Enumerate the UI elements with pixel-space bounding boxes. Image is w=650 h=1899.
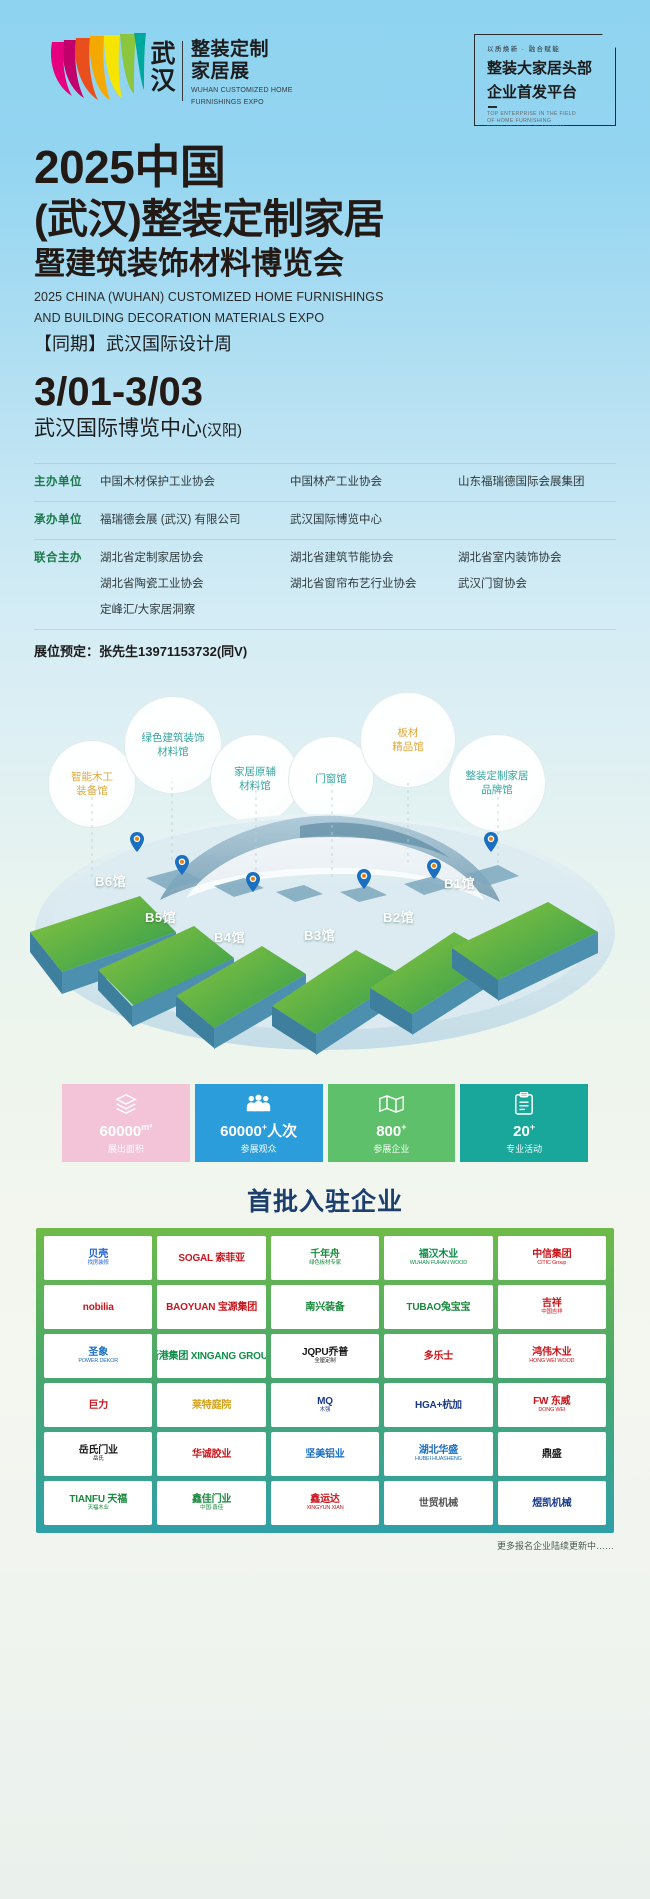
company-logo[interactable]: 煜凯机械 xyxy=(498,1481,606,1525)
company-logo[interactable]: nobilia xyxy=(44,1285,152,1329)
company-subtitle: WUHAN FUHAN WOOD xyxy=(410,1260,467,1267)
map-pin-icon[interactable] xyxy=(130,832,144,852)
company-logo[interactable]: 多乐士 xyxy=(384,1334,492,1378)
company-name: MQ xyxy=(317,1396,333,1407)
company-subtitle: 全屋定制 xyxy=(302,1358,348,1365)
organizer-name xyxy=(458,601,616,620)
stat-superscript: + xyxy=(530,1122,535,1132)
organizer-name: 湖北省窗帘布艺行业协会 xyxy=(290,575,458,594)
stat-number: 800 xyxy=(376,1123,401,1140)
company-name: 贝壳 xyxy=(88,1249,108,1260)
poster: 武汉 整装定制 家居展 WUHAN CUSTOMIZED HOME FURNIS… xyxy=(0,0,650,1899)
company-name: 华诚胶业 xyxy=(192,1449,231,1460)
company-logo[interactable]: 巨力 xyxy=(44,1383,152,1427)
pavilion-label-line1: 家居原辅 xyxy=(234,765,276,779)
clipboard-icon xyxy=(514,1092,534,1116)
pavilion-label-line1: 板材 xyxy=(392,726,424,740)
pavilion-label-line2: 材料馆 xyxy=(142,745,205,759)
company-name: 莱特庭院 xyxy=(192,1400,231,1411)
pavilion-bubble[interactable]: 板材精品馆 xyxy=(360,692,456,788)
company-name: 吉祥 xyxy=(542,1298,562,1309)
slogan-divider xyxy=(488,106,497,108)
footer-note: 更多报名企业陆续更新中…… xyxy=(0,1539,614,1552)
hall-label-B4馆[interactable]: B4馆 xyxy=(214,927,245,946)
organizer-name: 湖北省室内装饰协会 xyxy=(458,549,616,568)
organizer-values: 中国木材保护工业协会中国林产工业协会山东福瑞德国际会展集团 xyxy=(100,473,616,492)
stats-row: 60000m²展出面积60000+人次参展观众800+参展企业20+专业活动 xyxy=(0,1084,650,1162)
pavilion-label-line1: 整装定制家居 xyxy=(466,769,529,783)
organizer-row: 承办单位福瑞德会展 (武汉) 有限公司武汉国际博览中心 xyxy=(34,501,616,539)
organizer-name: 武汉门窗协会 xyxy=(458,575,616,594)
stat-card: 800+参展企业 xyxy=(328,1084,456,1162)
organizer-line: 湖北省陶瓷工业协会湖北省窗帘布艺行业协会武汉门窗协会 xyxy=(100,575,616,594)
pavilion-label-line2: 精品馆 xyxy=(392,740,424,754)
visitors-icon xyxy=(245,1092,272,1116)
company-logo[interactable]: HGA+杭加 xyxy=(384,1383,492,1427)
event-venue: 武汉国际博览中心(汉阳) xyxy=(34,415,616,445)
company-subtitle: HONG WEI WOOD xyxy=(529,1358,574,1365)
company-name: 巨力 xyxy=(88,1400,108,1411)
company-name: TIANFU 天福 xyxy=(69,1494,127,1505)
slogan-small: 以质焕新 · 融合赋能 xyxy=(487,45,615,54)
map-pin-icon[interactable] xyxy=(246,872,260,892)
company-name: 鸿伟木业 xyxy=(532,1347,571,1358)
company-subtitle: HUBEI HUASHENG xyxy=(415,1456,462,1463)
stat-card: 20+专业活动 xyxy=(460,1084,588,1162)
hall-label-B3馆[interactable]: B3馆 xyxy=(304,925,335,944)
stat-caption: 专业活动 xyxy=(506,1142,542,1155)
company-logo[interactable]: 鑫运达XINGYUN XIAN xyxy=(271,1481,379,1525)
company-subtitle: 岳氏 xyxy=(79,1456,118,1463)
company-logo[interactable]: 坚美铝业 xyxy=(271,1432,379,1476)
map-pin-icon[interactable] xyxy=(175,855,189,875)
concurrent-event: 【同期】武汉国际设计周 xyxy=(34,331,616,357)
logo-cn-line2: 家居展 xyxy=(191,61,293,83)
title-block: 2025中国 (武汉)整装定制家居 暨建筑装饰材料博览会 2025 CHINA … xyxy=(0,135,650,445)
company-name: 福汉木业 xyxy=(419,1249,458,1260)
company-logo[interactable]: 岳氏门业岳氏 xyxy=(44,1432,152,1476)
company-name: BAOYUAN 宝源集团 xyxy=(166,1302,257,1313)
company-logo[interactable]: 南兴装备 xyxy=(271,1285,379,1329)
stat-value: 60000+人次 xyxy=(220,1119,297,1140)
company-name: 千年舟 xyxy=(310,1249,339,1260)
expo-logo-icon xyxy=(34,30,146,112)
organizer-row: 主办单位中国木材保护工业协会中国林产工业协会山东福瑞德国际会展集团 xyxy=(34,463,616,501)
organizer-line: 定峰汇/大家居洞察 xyxy=(100,601,616,620)
map-pin-icon[interactable] xyxy=(484,832,498,852)
booth-label: 展位预定： xyxy=(34,644,99,659)
company-subtitle: 木强 xyxy=(317,1407,333,1414)
organizer-line: 湖北省定制家居协会湖北省建筑节能协会湖北省室内装饰协会 xyxy=(100,549,616,568)
organizer-name xyxy=(290,601,458,620)
company-name: SOGAL 索菲亚 xyxy=(178,1253,244,1264)
company-logo[interactable]: 世贸机械 xyxy=(384,1481,492,1525)
logo-cn-city: 武汉 xyxy=(148,36,174,107)
company-logo[interactable]: 鼎盛 xyxy=(498,1432,606,1476)
organizer-name: 湖北省定制家居协会 xyxy=(100,549,290,568)
venue-district: (汉阳) xyxy=(202,422,242,439)
company-name: 中信集团 xyxy=(532,1249,571,1260)
title-en-line1: 2025 CHINA (WUHAN) CUSTOMIZED HOME FURNI… xyxy=(34,289,616,305)
stat-value: 60000m² xyxy=(100,1119,153,1140)
stat-card: 60000m²展出面积 xyxy=(62,1084,190,1162)
company-subtitle: CITIC Group xyxy=(532,1260,571,1267)
organizer-name: 中国林产工业协会 xyxy=(290,473,458,492)
stat-caption: 参展企业 xyxy=(373,1142,409,1155)
company-subtitle: XINGYUN XIAN xyxy=(306,1505,343,1512)
company-name: 鼎盛 xyxy=(542,1449,562,1460)
hall-label-B5馆[interactable]: B5馆 xyxy=(145,907,176,926)
organizer-values: 湖北省定制家居协会湖北省建筑节能协会湖北省室内装饰协会湖北省陶瓷工业协会湖北省窗… xyxy=(100,549,616,620)
logo-en-line2: FURNISHINGS EXPO xyxy=(191,98,293,107)
company-logo[interactable]: 新港集团 XINGANG GROUP xyxy=(157,1334,265,1378)
stat-superscript: m² xyxy=(141,1122,152,1132)
exhibition-hall-map: B6馆B5馆B4馆B3馆B2馆B1馆 xyxy=(0,782,650,1062)
company-name: 世贸机械 xyxy=(419,1498,458,1509)
company-name: 坚美铝业 xyxy=(305,1449,344,1460)
company-logo[interactable]: 贝壳找房装修 xyxy=(44,1236,152,1280)
organizer-name: 定峰汇/大家居洞察 xyxy=(100,601,290,620)
companies-grid-wrap: 贝壳找房装修SOGAL 索菲亚千年舟绿色板材专家福汉木业WUHAN FUHAN … xyxy=(36,1228,614,1533)
organizer-values: 福瑞德会展 (武汉) 有限公司武汉国际博览中心 xyxy=(100,511,616,530)
company-name: 鑫运达 xyxy=(310,1494,339,1505)
company-logo[interactable]: 吉祥中国吉祥 xyxy=(498,1285,606,1329)
organizer-name: 山东福瑞德国际会展集团 xyxy=(458,473,616,492)
slogan-box: 以质焕新 · 融合赋能 整装大家居头部 企业首发平台 TOP ENTERPRIS… xyxy=(474,34,616,126)
companies-grid: 贝壳找房装修SOGAL 索菲亚千年舟绿色板材专家福汉木业WUHAN FUHAN … xyxy=(44,1236,606,1525)
company-subtitle: 天福木业 xyxy=(69,1505,127,1512)
organizer-label: 主办单位 xyxy=(34,473,100,491)
company-name: 新港集团 XINGANG GROUP xyxy=(157,1351,265,1362)
company-name: JQPU乔普 xyxy=(302,1347,348,1358)
logo-cn-line1: 整装定制 xyxy=(191,39,293,61)
map-pin-icon[interactable] xyxy=(427,859,441,879)
stat-caption: 参展观众 xyxy=(241,1142,277,1155)
company-logo[interactable]: TUBAO兔宝宝 xyxy=(384,1285,492,1329)
stat-number: 20 xyxy=(513,1123,530,1140)
logo-en-line1: WUHAN CUSTOMIZED HOME xyxy=(191,86,293,95)
map-icon xyxy=(378,1092,405,1116)
company-subtitle: 找房装修 xyxy=(88,1260,109,1267)
company-name: FW 东威 xyxy=(533,1396,570,1407)
logo-divider xyxy=(182,41,183,101)
hall-label-B6馆[interactable]: B6馆 xyxy=(95,871,126,890)
company-subtitle: DONG WEI xyxy=(533,1407,570,1414)
title-main-line2: (武汉)整装定制家居 xyxy=(34,193,616,245)
organizer-name: 湖北省建筑节能协会 xyxy=(290,549,458,568)
company-logo[interactable]: MQ木强 xyxy=(271,1383,379,1427)
company-name: 鑫佳门业 xyxy=(192,1494,231,1505)
stat-value: 20+ xyxy=(513,1119,535,1140)
slogan-en-line2: OF HOME FURNISHING xyxy=(487,118,615,125)
slogan-en-line1: TOP ENTERPRISE IN THE FIELD xyxy=(487,111,615,118)
company-subtitle: 中国吉祥 xyxy=(541,1309,562,1316)
company-name: 煜凯机械 xyxy=(532,1498,571,1509)
company-name: 南兴装备 xyxy=(305,1302,344,1313)
stat-value: 800+ xyxy=(376,1119,406,1140)
company-logo[interactable]: 鑫佳门业中国·鑫佳 xyxy=(157,1481,265,1525)
company-logo[interactable]: 莱特庭院 xyxy=(157,1383,265,1427)
company-logo[interactable]: FW 东威DONG WEI xyxy=(498,1383,606,1427)
organizers-table: 主办单位中国木材保护工业协会中国林产工业协会山东福瑞德国际会展集团承办单位福瑞德… xyxy=(34,463,616,630)
organizer-line: 中国木材保护工业协会中国林产工业协会山东福瑞德国际会展集团 xyxy=(100,473,616,492)
slogan-en-line3: FIRST RELEASE PLATFORM xyxy=(487,125,615,132)
company-logo[interactable]: 福汉木业WUHAN FUHAN WOOD xyxy=(384,1236,492,1280)
company-logo[interactable]: 鸿伟木业HONG WEI WOOD xyxy=(498,1334,606,1378)
stat-number: 60000 xyxy=(100,1123,142,1140)
venue-main: 武汉国际博览中心 xyxy=(34,417,202,440)
title-main-line1: 2025中国 xyxy=(34,141,616,193)
company-logo[interactable]: SOGAL 索菲亚 xyxy=(157,1236,265,1280)
poster-header: 武汉 整装定制 家居展 WUHAN CUSTOMIZED HOME FURNIS… xyxy=(0,0,650,135)
event-date: 3/01-3/03 xyxy=(34,369,616,415)
company-name: 岳氏门业 xyxy=(79,1445,118,1456)
pavilion-label-line1: 绿色建筑装饰 xyxy=(142,731,205,745)
organizer-label: 联合主办 xyxy=(34,549,100,567)
companies-section-title: 首批入驻企业 xyxy=(0,1182,650,1218)
organizer-name: 福瑞德会展 (武汉) 有限公司 xyxy=(100,511,290,530)
company-name: 湖北华盛 xyxy=(419,1445,458,1456)
layers-icon xyxy=(114,1092,138,1116)
company-logo[interactable]: 千年舟绿色板材专家 xyxy=(271,1236,379,1280)
organizer-row: 联合主办湖北省定制家居协会湖北省建筑节能协会湖北省室内装饰协会湖北省陶瓷工业协会… xyxy=(34,539,616,630)
stat-suffix: 人次 xyxy=(267,1123,297,1140)
brand-logo: 武汉 整装定制 家居展 WUHAN CUSTOMIZED HOME FURNIS… xyxy=(34,30,293,112)
map-pin-icon[interactable] xyxy=(357,869,371,889)
company-name: nobilia xyxy=(83,1302,114,1313)
stat-superscript: + xyxy=(401,1122,406,1132)
company-logo[interactable]: BAOYUAN 宝源集团 xyxy=(157,1285,265,1329)
company-name: TUBAO兔宝宝 xyxy=(406,1302,470,1313)
organizer-name: 武汉国际博览中心 xyxy=(290,511,458,530)
pavilion-bubble[interactable]: 绿色建筑装饰材料馆 xyxy=(124,696,222,794)
organizer-name xyxy=(458,511,616,530)
organizer-line: 福瑞德会展 (武汉) 有限公司武汉国际博览中心 xyxy=(100,511,616,530)
organizer-label: 承办单位 xyxy=(34,511,100,529)
booth-contact: 张先生13971153732(同V) xyxy=(99,644,247,659)
slogan-big-line1: 整装大家居头部 xyxy=(487,59,615,78)
stat-caption: 展出面积 xyxy=(108,1142,144,1155)
company-logo[interactable]: 湖北华盛HUBEI HUASHENG xyxy=(384,1432,492,1476)
title-en-line2: AND BUILDING DECORATION MATERIALS EXPO xyxy=(34,310,616,326)
organizer-name: 湖北省陶瓷工业协会 xyxy=(100,575,290,594)
company-logo[interactable]: 圣象POWER DEKOR xyxy=(44,1334,152,1378)
company-subtitle: POWER DEKOR xyxy=(78,1358,118,1365)
company-name: 多乐士 xyxy=(424,1351,453,1362)
company-subtitle: 绿色板材专家 xyxy=(309,1260,341,1267)
company-logo[interactable]: TIANFU 天福天福木业 xyxy=(44,1481,152,1525)
hall-label-B1馆[interactable]: B1馆 xyxy=(444,873,475,892)
company-subtitle: 中国·鑫佳 xyxy=(192,1505,231,1512)
company-name: HGA+杭加 xyxy=(415,1400,462,1411)
company-logo[interactable]: 华诚胶业 xyxy=(157,1432,265,1476)
organizer-name: 中国木材保护工业协会 xyxy=(100,473,290,492)
title-sub: 暨建筑装饰材料博览会 xyxy=(34,244,616,284)
company-logo[interactable]: JQPU乔普全屋定制 xyxy=(271,1334,379,1378)
stat-number: 60000 xyxy=(220,1123,262,1140)
stat-card: 60000+人次参展观众 xyxy=(195,1084,323,1162)
hall-label-B2馆[interactable]: B2馆 xyxy=(383,907,414,926)
booth-reservation: 展位预定：张先生13971153732(同V) xyxy=(34,642,650,662)
company-name: 圣象 xyxy=(88,1347,108,1358)
company-logo[interactable]: 中信集团CITIC Group xyxy=(498,1236,606,1280)
slogan-big-line2: 企业首发平台 xyxy=(487,83,615,102)
